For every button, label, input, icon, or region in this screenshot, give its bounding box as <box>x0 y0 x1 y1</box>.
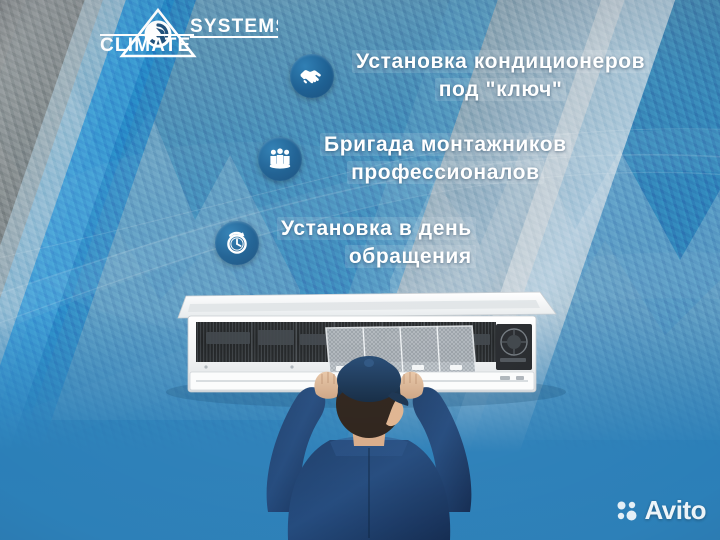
advertisement-banner: CLIMATE SYSTEMS Установка кондиционеров … <box>0 0 720 540</box>
vignette-overlay <box>0 0 720 540</box>
